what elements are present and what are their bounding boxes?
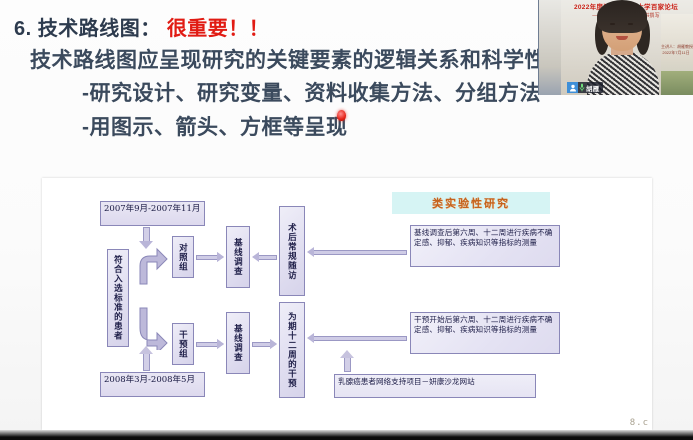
watermark-text: 8.c [630, 418, 649, 428]
presenter-video-tile[interactable]: 2022年度河南中医药大学百家论坛 ——科研课题设计与标书撰写 主讲人：胡雁教授… [538, 0, 693, 95]
event-credit-block: 主讲人：胡雁教授 2022年7月11日 [661, 44, 691, 56]
box-baseline-survey-top: 基线调查 [226, 226, 250, 288]
arrow-left-measure-top [307, 247, 407, 257]
heading-emphasis: 很重要！！ [167, 18, 270, 40]
arrow-right-baseline-to-intervention-phase [252, 339, 277, 349]
box-routine-followup: 术后常规随访 [279, 206, 305, 296]
box-measure-bottom: 干预开始后第六周、十二周进行疾病不确定感、抑郁、疾病知识等指标的测量 [410, 312, 560, 354]
diagram-title-banner: 类实验性研究 [392, 192, 550, 214]
arrow-right-intervention-to-baseline [196, 339, 224, 349]
slide-bullet-3: -用图示、箭头、方框等呈现 [0, 111, 693, 145]
heading-title: 技术路线图： [38, 18, 161, 40]
presenter-eye-left [610, 23, 615, 25]
box-control-group: 对照组 [172, 236, 194, 278]
presenter-eye-right [628, 23, 633, 25]
slide-bottom-edge [0, 430, 693, 440]
video-left-wall [539, 0, 561, 95]
arrow-up-support-site [339, 350, 355, 372]
heading-number: 6. [14, 18, 32, 40]
box-date-bottom: 2008年3月-2008年5月 [100, 372, 205, 397]
event-date-label: 2022年7月11日 [661, 50, 691, 56]
arrow-left-followup-to-baseline [252, 252, 277, 262]
box-twelve-week-intervention: 为期十二周的干预 [279, 302, 305, 398]
arrow-curve-lower [134, 306, 168, 355]
arrow-curve-upper [134, 244, 168, 291]
box-date-top: 2007年9月-2007年11月 [100, 201, 205, 226]
microphone-icon [578, 82, 586, 93]
video-plant-decor [661, 71, 693, 95]
box-intervention-group: 干预组 [172, 323, 194, 365]
arrow-left-measure-bottom [307, 333, 407, 343]
participant-name-label: 胡雁 [586, 83, 600, 93]
presenter-hair-top [597, 0, 647, 33]
box-support-site: 乳腺癌患者网络支持项目－妍康沙龙网站 [334, 374, 536, 398]
arrow-right-control-to-baseline [196, 252, 224, 262]
box-eligible-patients: 符合入选标准的患者 [107, 249, 129, 347]
box-measure-top: 基线调查后第六周、十二周进行疾病不确定感、抑郁、疾病知识等指标的测量 [410, 225, 560, 267]
presentation-screen-share: 6. 技术路线图： 很重要！！ 技术路线图应呈现研究的关键要素的逻辑关系和科学性… [0, 0, 693, 440]
participant-name-tag[interactable]: 胡雁 [567, 82, 603, 93]
technical-roadmap-diagram: 类实验性研究 2007年9月-2007年11月 2008年3月-2008年5月 … [42, 178, 652, 430]
laser-pointer-dot [337, 110, 346, 121]
box-baseline-survey-bottom: 基线调查 [226, 312, 250, 374]
person-icon [567, 82, 578, 93]
